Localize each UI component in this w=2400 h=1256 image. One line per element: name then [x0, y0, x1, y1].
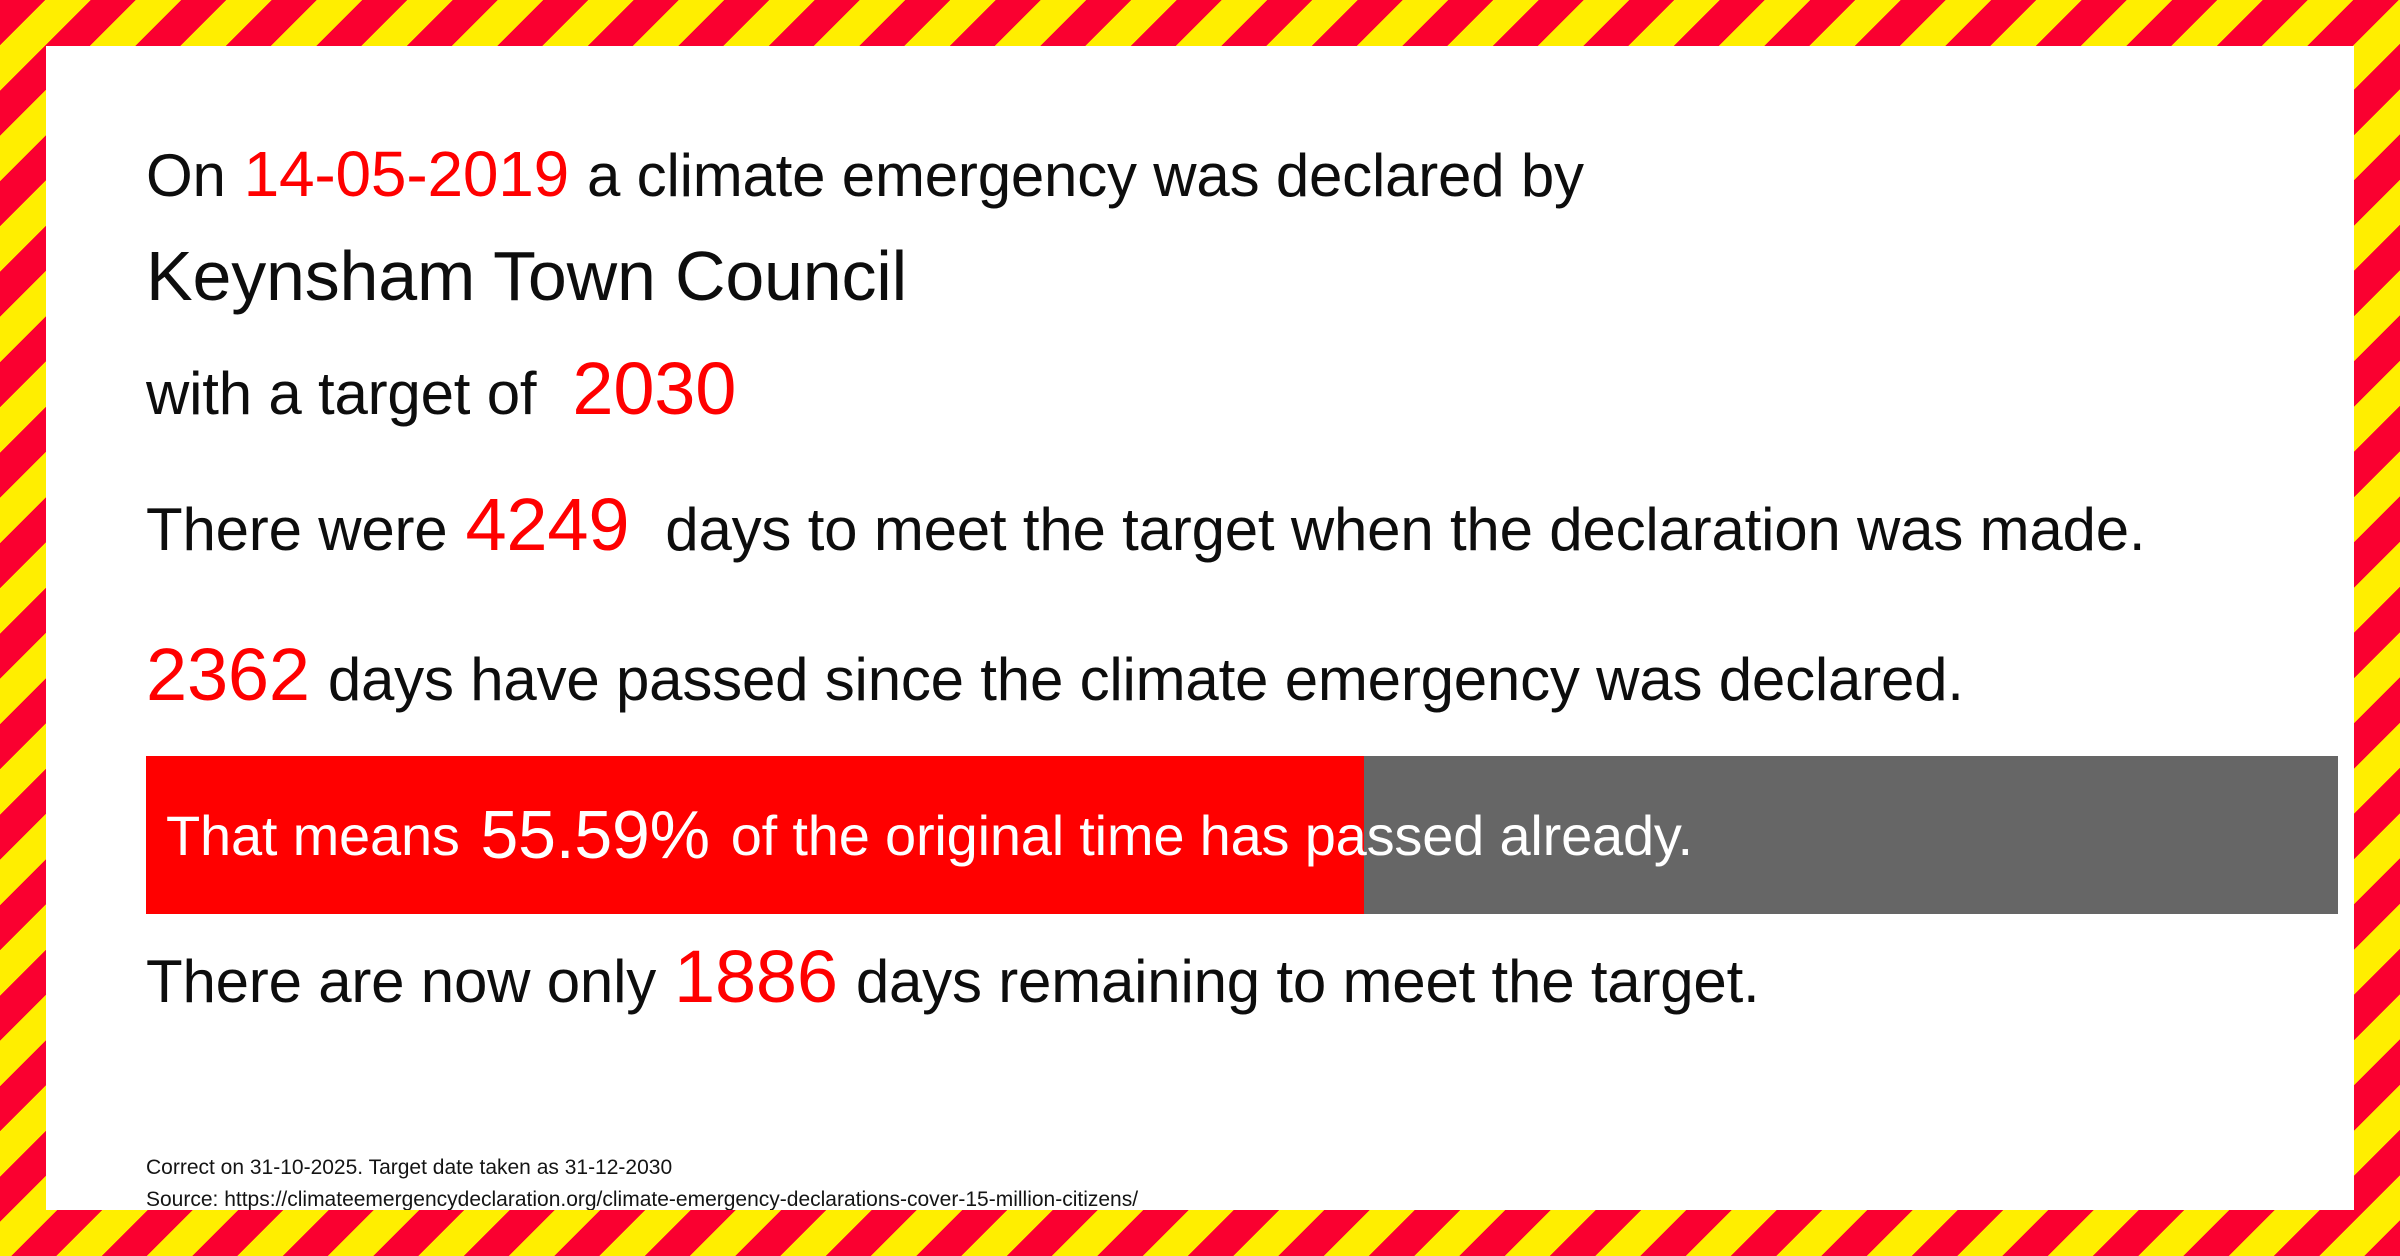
declaration-headline: On14-05-2019a climate emergency was decl…	[146, 142, 1584, 206]
days-remaining-suffix: days remaining to meet the target.	[856, 948, 1760, 1015]
declaration-suffix: a climate emergency was declared by	[587, 142, 1584, 209]
original-days-value: 4249	[465, 483, 629, 566]
target-prefix: with a target of	[146, 360, 536, 427]
original-days-prefix: There were	[146, 496, 447, 563]
progress-label-prefix: That means	[166, 803, 460, 868]
original-days-line: There were4249days to meet the target wh…	[146, 488, 2145, 562]
time-elapsed-progress-bar: That means55.59%of the original time has…	[146, 756, 2338, 914]
declaration-prefix: On	[146, 142, 226, 209]
progress-bar-label: That means55.59%of the original time has…	[146, 756, 2338, 914]
declaration-date: 14-05-2019	[244, 138, 569, 210]
days-passed-suffix: days have passed since the climate emerg…	[328, 646, 1964, 713]
target-line: with a target of2030	[146, 352, 736, 426]
days-remaining-line: There are now only1886days remaining to …	[146, 940, 1760, 1014]
days-passed-line: 2362days have passed since the climate e…	[146, 638, 1964, 712]
original-days-suffix: days to meet the target when the declara…	[665, 496, 2145, 563]
days-remaining-prefix: There are now only	[146, 948, 656, 1015]
hazard-striped-poster-frame: On14-05-2019a climate emergency was decl…	[0, 0, 2400, 1256]
progress-percent-value: 55.59%	[477, 796, 714, 874]
progress-label-suffix: of the original time has passed already.	[731, 803, 1693, 868]
days-passed-value: 2362	[146, 633, 310, 716]
days-remaining-value: 1886	[674, 935, 838, 1018]
footnote-source-url: Source: https://climateemergencydeclarat…	[146, 1188, 1138, 1210]
target-year: 2030	[572, 347, 736, 430]
footnote-correct-on: Correct on 31-10-2025. Target date taken…	[146, 1156, 672, 1180]
poster-card: On14-05-2019a climate emergency was decl…	[46, 46, 2354, 1210]
declaring-authority: Keynsham Town Council	[146, 236, 907, 316]
